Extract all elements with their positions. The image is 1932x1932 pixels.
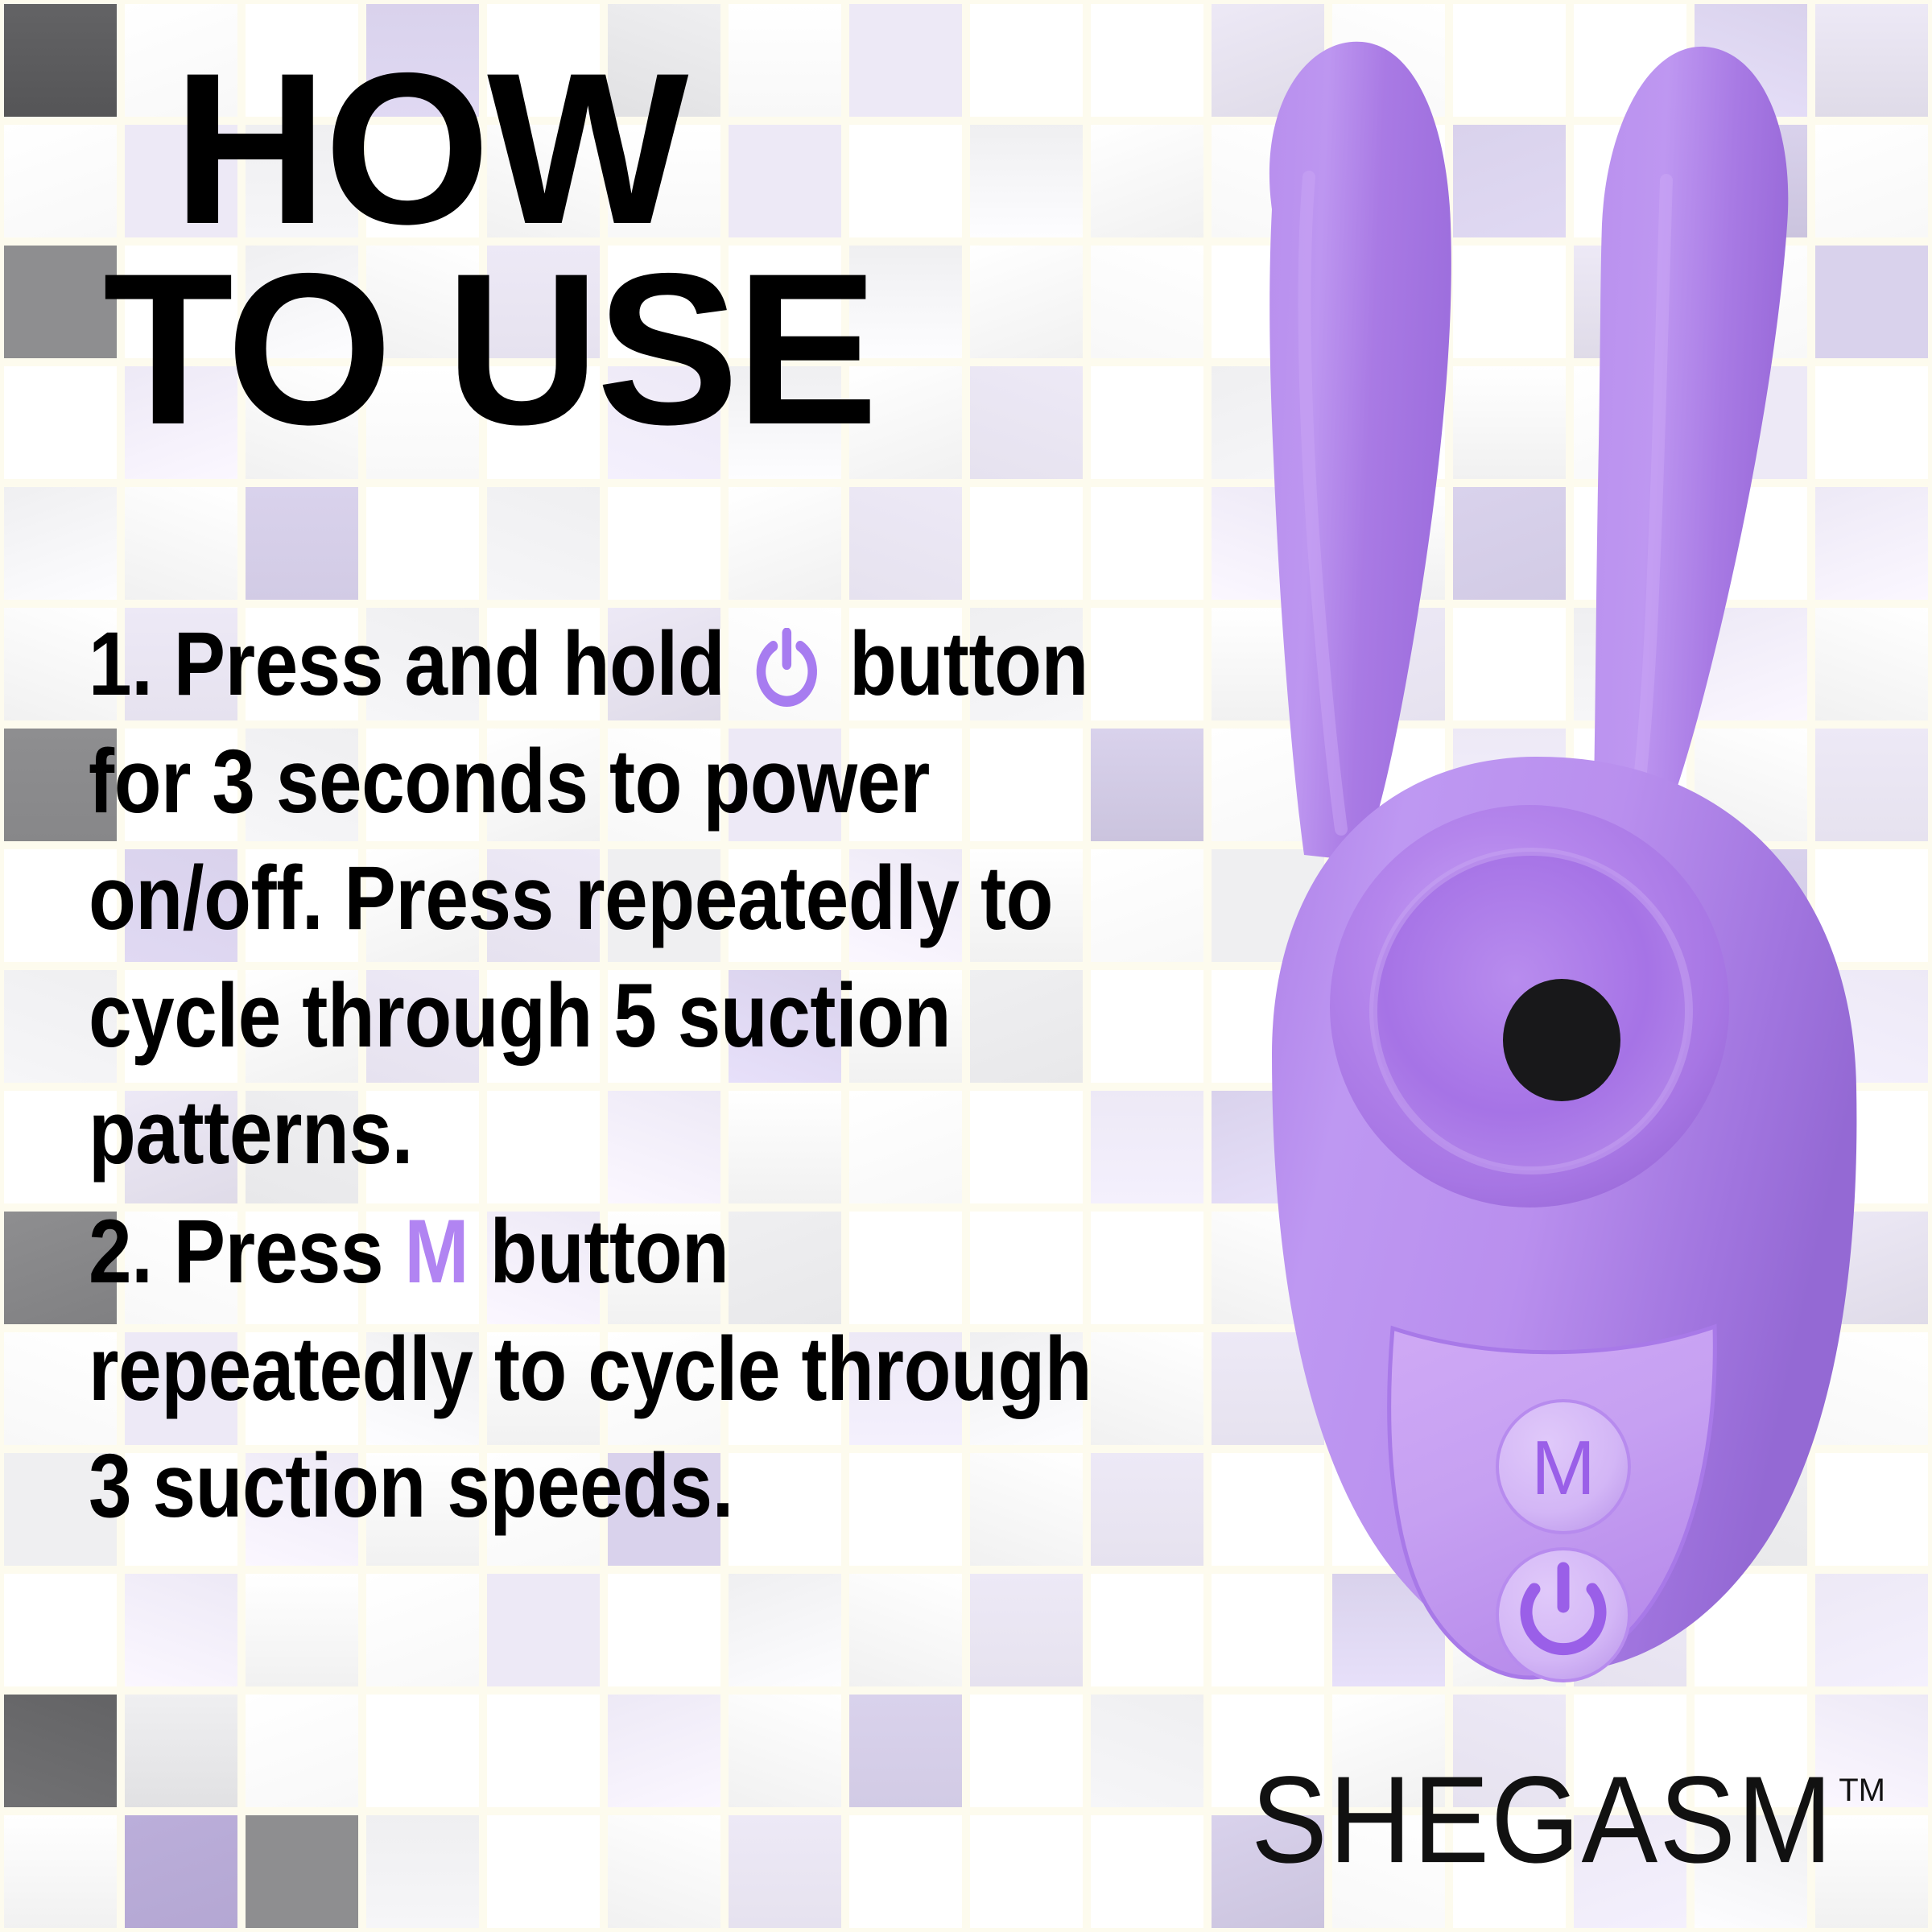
background-tile xyxy=(0,1811,121,1932)
background-tile xyxy=(121,483,242,604)
background-tile xyxy=(362,1811,483,1932)
power-icon xyxy=(751,628,823,711)
background-tile xyxy=(845,1690,966,1811)
background-tile xyxy=(121,1690,242,1811)
headline-line-2: TO USE xyxy=(95,249,1092,449)
background-tile xyxy=(0,1690,121,1811)
background-tile xyxy=(604,483,724,604)
background-tile xyxy=(604,1811,724,1932)
background-tile xyxy=(724,1570,845,1690)
background-tile xyxy=(242,483,362,604)
step-2-text-before-accent: Press xyxy=(152,1201,404,1302)
background-tile xyxy=(845,1811,966,1932)
background-tile xyxy=(966,1811,1087,1932)
brand-logo: SHEGASM TM xyxy=(1251,1768,1885,1882)
background-tile xyxy=(483,1811,604,1932)
background-tile xyxy=(121,1811,242,1932)
background-tile xyxy=(242,1811,362,1932)
background-tile xyxy=(724,1690,845,1811)
background-tile xyxy=(483,1690,604,1811)
background-tile xyxy=(966,1570,1087,1690)
background-tile xyxy=(845,483,966,604)
background-tile xyxy=(483,483,604,604)
left-ear xyxy=(1269,42,1451,861)
mode-button-letter: M xyxy=(404,1201,469,1302)
background-tile xyxy=(121,1570,242,1690)
trademark-symbol: TM xyxy=(1839,1773,1885,1809)
product-instruction-poster: HOW TO USE 1. Press and hold button for … xyxy=(0,0,1932,1932)
background-tile xyxy=(604,1690,724,1811)
right-ear xyxy=(1592,47,1788,860)
background-tile xyxy=(242,1690,362,1811)
background-tile xyxy=(0,1570,121,1690)
background-tile xyxy=(242,1570,362,1690)
step-2-number: 2. xyxy=(89,1201,152,1302)
instruction-step-2: 2. Press M button repeatedly to cycle th… xyxy=(89,1193,1106,1545)
suction-nozzle-hole xyxy=(1503,979,1620,1101)
background-tile xyxy=(604,1570,724,1690)
background-tile xyxy=(362,483,483,604)
background-tile xyxy=(724,483,845,604)
background-tile xyxy=(966,1690,1087,1811)
background-tile xyxy=(966,483,1087,604)
instruction-step-1: 1. Press and hold button for 3 seconds t… xyxy=(89,605,1106,1191)
page-title: HOW TO USE xyxy=(95,48,1092,449)
product-image: M xyxy=(1151,8,1932,1755)
background-tile xyxy=(845,1570,966,1690)
headline-line-1: HOW xyxy=(95,48,1092,249)
background-tile xyxy=(362,1690,483,1811)
mode-button-label: M xyxy=(1531,1425,1596,1511)
step-1-number: 1. xyxy=(89,613,152,714)
background-tile xyxy=(724,1811,845,1932)
brand-name: SHEGASM xyxy=(1251,1759,1834,1882)
background-tile xyxy=(483,1570,604,1690)
background-tile xyxy=(362,1570,483,1690)
background-tile xyxy=(0,483,121,604)
step-1-text-before-icon: Press and hold xyxy=(152,613,745,714)
background-tile xyxy=(1087,1811,1207,1932)
